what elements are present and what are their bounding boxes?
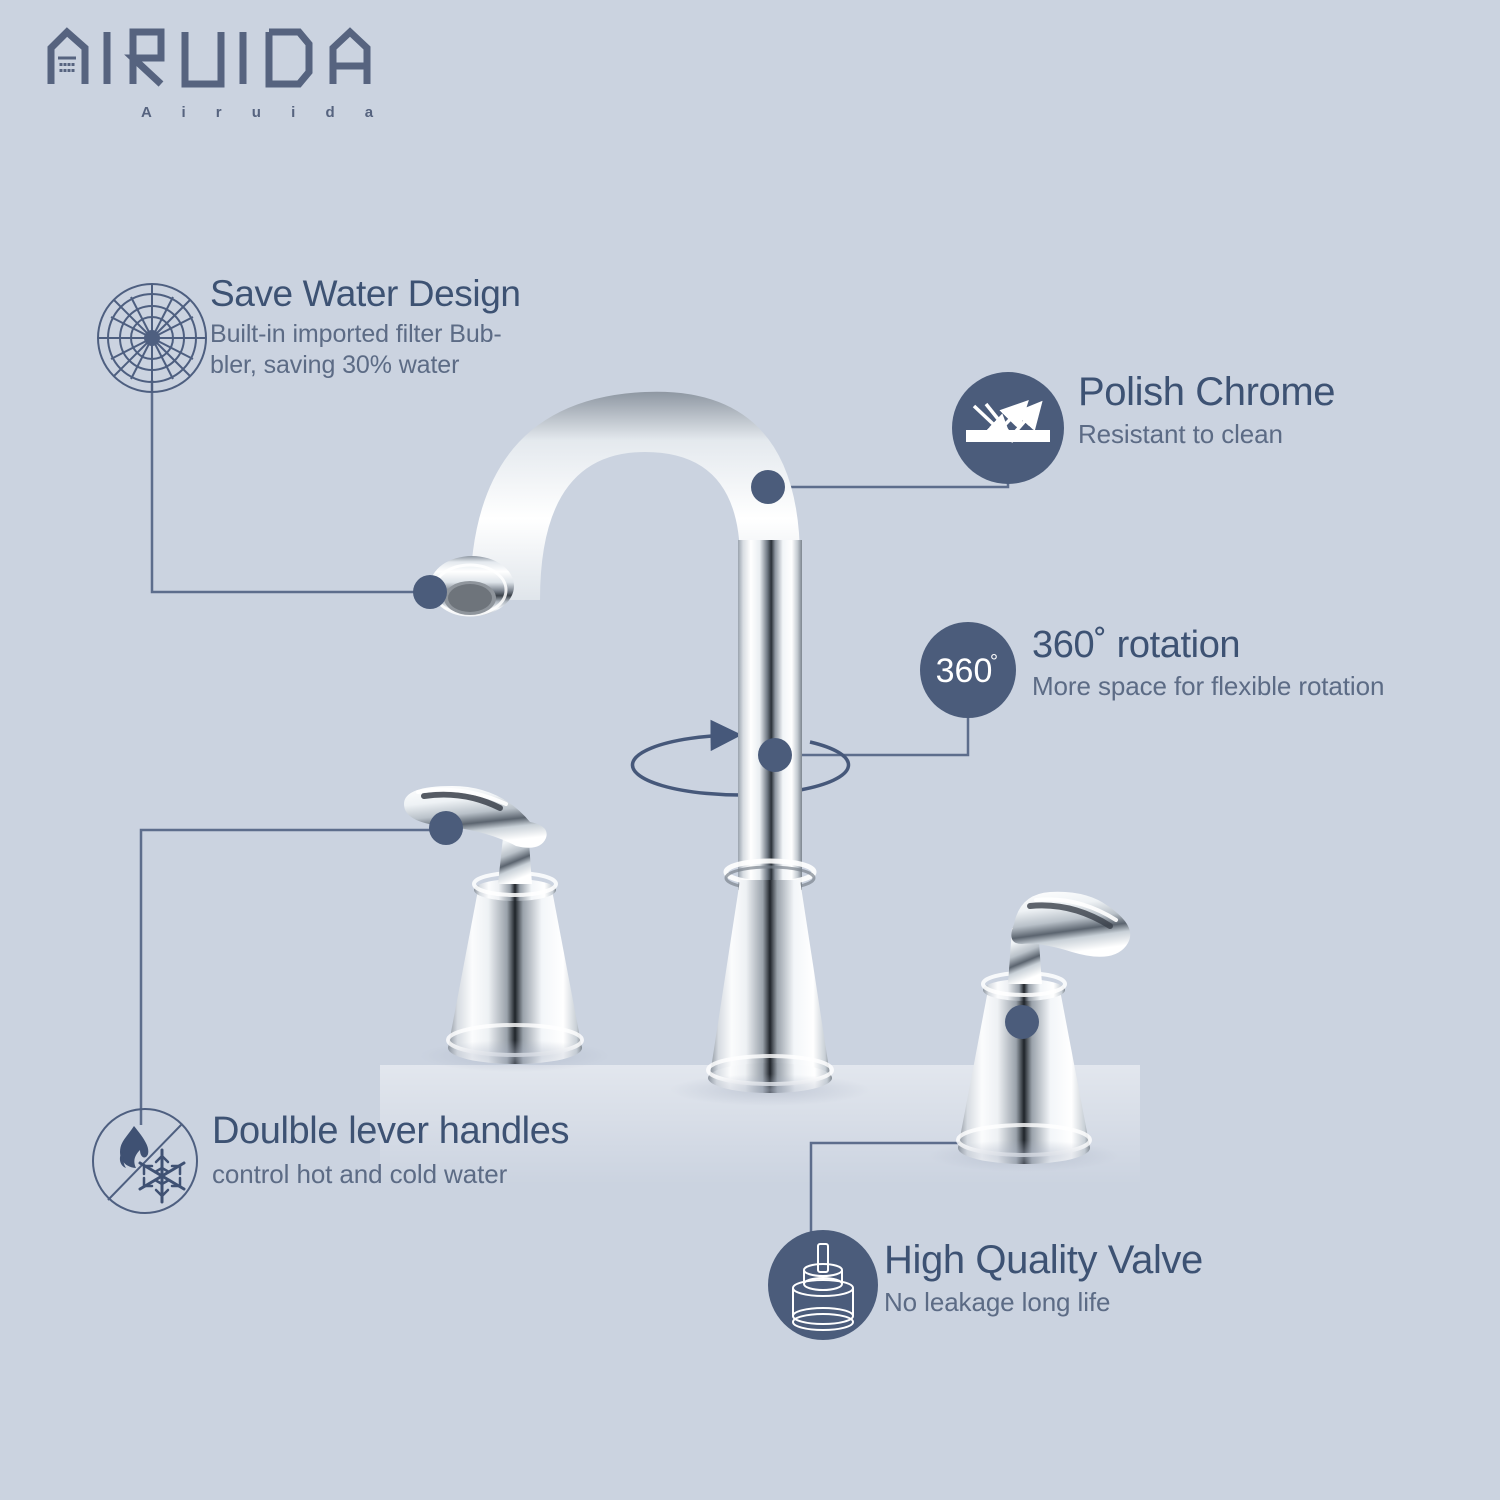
callout-dots [413, 470, 1039, 1039]
aerator-bubbler-icon [96, 282, 208, 399]
feature-subtitle: More space for flexible rotation [1032, 670, 1482, 702]
feature-subtitle: No leakage long life [884, 1286, 1324, 1318]
dot-valve [1005, 1005, 1039, 1039]
connector-double-lever [141, 830, 443, 1125]
dot-polish-chrome [751, 470, 785, 504]
svg-text:°: ° [990, 651, 998, 673]
feature-rotation: 360˚ rotation More space for flexible ro… [1032, 622, 1482, 702]
hot-cold-flame-snowflake-icon [90, 1106, 200, 1221]
dot-double-lever [429, 811, 463, 845]
brand-wordmark [45, 22, 405, 102]
brand-logo: A i r u i d a [45, 22, 405, 112]
right-lever-handle [958, 892, 1130, 1164]
feature-subtitle-line: bler, saving 30% water [210, 350, 630, 381]
feature-valve: High Quality Valve No leakage long life [884, 1236, 1324, 1318]
rotation-ellipse-indicator [632, 735, 848, 795]
feature-save-water: Save Water Design Built-in imported filt… [210, 272, 630, 381]
feature-double-lever: Doulble lever handles control hot and co… [212, 1108, 672, 1190]
valve-cartridge-icon [768, 1230, 878, 1345]
spout-base [710, 880, 830, 1075]
light-reflection-icon [952, 372, 1064, 489]
snowflake-icon [140, 1150, 184, 1202]
connector-save-water [152, 380, 432, 592]
360-badge-icon: 360 ° [920, 622, 1016, 723]
feature-title: 360˚ rotation [1032, 622, 1482, 668]
feature-subtitle: control hot and cold water [212, 1158, 672, 1190]
body-collar [726, 861, 814, 889]
infographic-canvas: A i r u i d a [0, 0, 1500, 1500]
brand-subtitle: A i r u i d a [141, 104, 386, 121]
feature-subtitle: Resistant to clean [1078, 418, 1478, 450]
dot-rotation [758, 738, 792, 772]
feature-title: Polish Chrome [1078, 368, 1478, 416]
left-lever-handle [404, 786, 582, 1064]
feature-title: Save Water Design [210, 272, 630, 316]
feature-title: Doulble lever handles [212, 1108, 672, 1154]
svg-text:360: 360 [936, 652, 993, 690]
gooseneck-spout [430, 392, 832, 1093]
feature-polish-chrome: Polish Chrome Resistant to clean [1078, 368, 1478, 450]
feature-title: High Quality Valve [884, 1236, 1324, 1284]
feature-subtitle-line: Built-in imported filter Bub- [210, 319, 630, 350]
dot-save-water [413, 575, 447, 609]
spout-aerator [430, 556, 514, 616]
feature-subtitle: Built-in imported filter Bub- bler, savi… [210, 319, 630, 381]
